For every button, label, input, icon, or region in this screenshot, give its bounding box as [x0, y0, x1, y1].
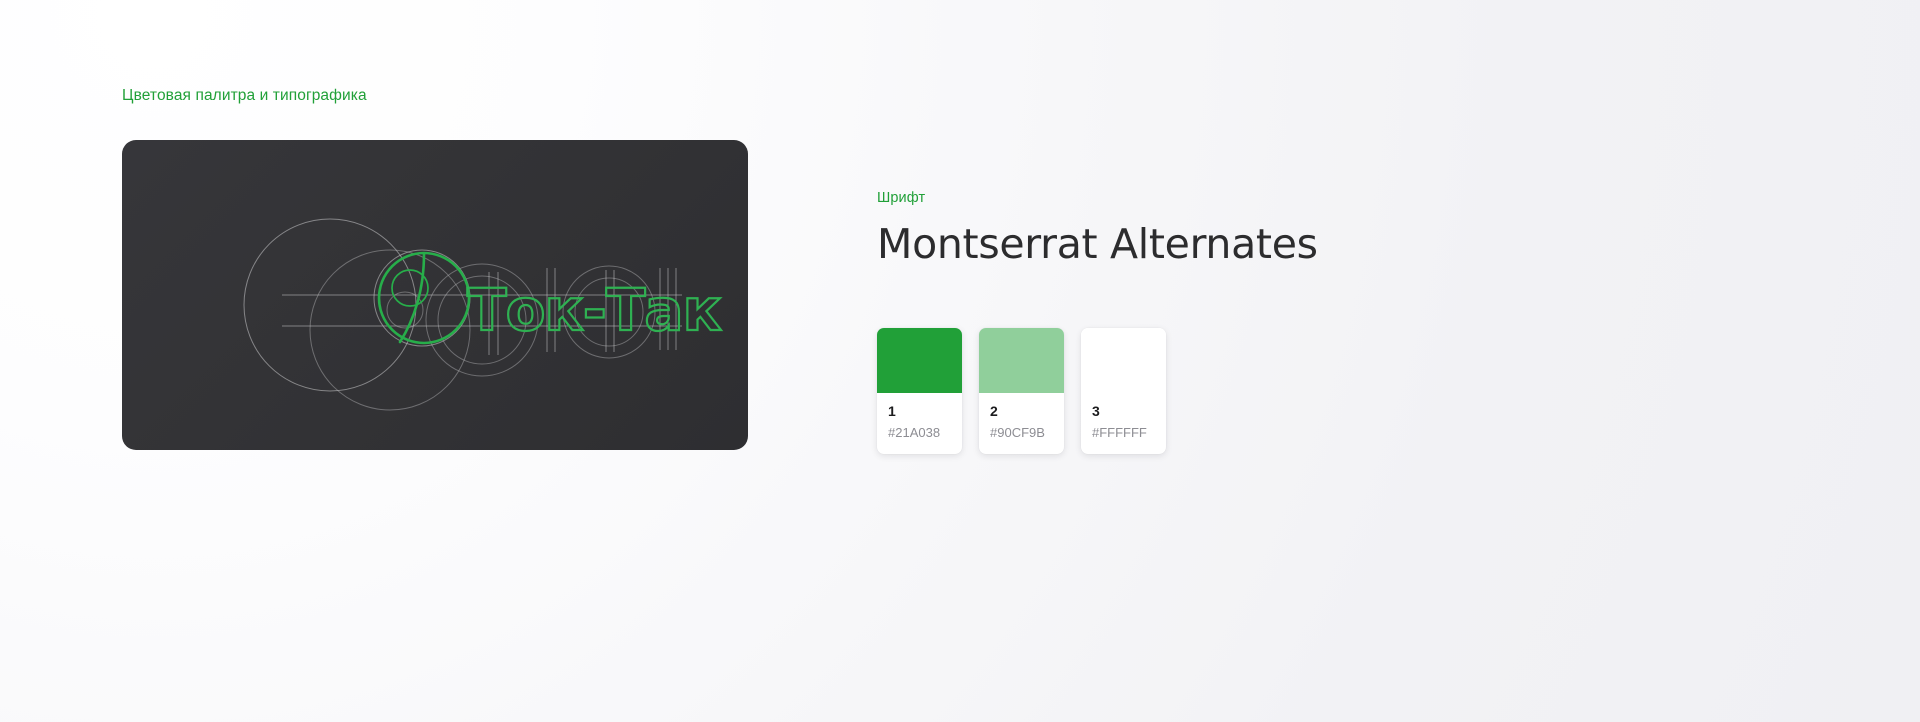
swatch-color-chip — [979, 328, 1064, 393]
swatch-number: 1 — [888, 403, 951, 421]
typography-palette-column: Шрифт Montserrat Alternates 1 #21A038 2 … — [877, 190, 1577, 454]
brand-wordmark-text: Ток-Так — [467, 276, 722, 344]
swatch-number: 2 — [990, 403, 1053, 421]
swatch-hex-value: #FFFFFF — [1092, 425, 1155, 440]
swatch-meta: 1 #21A038 — [877, 393, 962, 454]
brand-monogram-mark — [379, 253, 469, 343]
font-section-label: Шрифт — [877, 190, 1577, 206]
swatch-color-chip — [877, 328, 962, 393]
swatch-color-chip — [1081, 328, 1166, 393]
swatch-hex-value: #21A038 — [888, 425, 951, 440]
swatch-hex-value: #90CF9B — [990, 425, 1053, 440]
swatch-meta: 3 #FFFFFF — [1081, 393, 1166, 454]
color-swatch-card[interactable]: 2 #90CF9B — [979, 328, 1064, 454]
logo-construction-diagram: Ток-Так — [122, 140, 748, 450]
color-swatch-card[interactable]: 1 #21A038 — [877, 328, 962, 454]
brand-wordmark: Ток-Так — [467, 276, 722, 344]
section-title: Цветовая палитра и типографика — [122, 87, 367, 105]
swatch-meta: 2 #90CF9B — [979, 393, 1064, 454]
font-name: Montserrat Alternates — [877, 220, 1577, 268]
color-swatch-card[interactable]: 3 #FFFFFF — [1081, 328, 1166, 454]
swatch-number: 3 — [1092, 403, 1155, 421]
logo-construction-card: Ток-Так — [122, 140, 748, 450]
color-swatch-list: 1 #21A038 2 #90CF9B 3 #FFFFFF — [877, 328, 1577, 454]
